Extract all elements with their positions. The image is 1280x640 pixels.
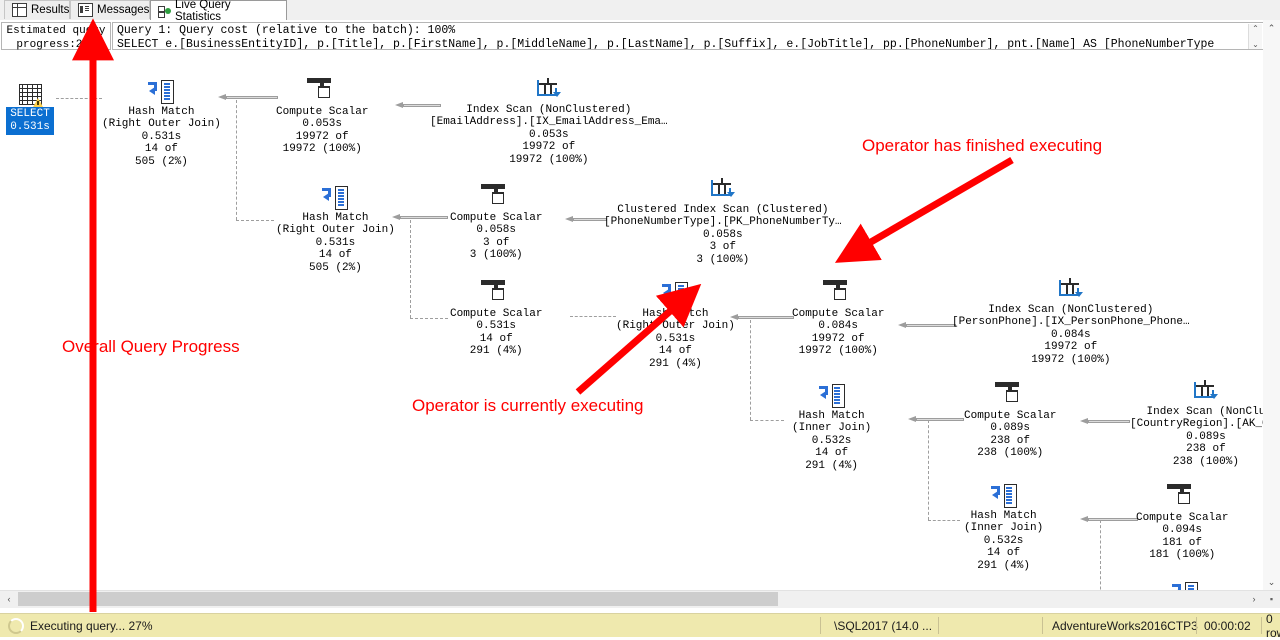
operator-line: 0.531s: [450, 320, 542, 332]
status-elapsed-text: 00:00:02: [1204, 619, 1251, 633]
operator-line: 0.531s: [102, 131, 221, 143]
operator-line: 291 (4%): [792, 460, 871, 472]
operator-node-index-scan-emailaddress[interactable]: Index Scan (NonClustered)[EmailAddress].…: [430, 78, 668, 166]
operator-line: 14 of: [450, 333, 542, 345]
query-text-scroll-up-icon[interactable]: ⌃: [1251, 25, 1260, 34]
hash-match-icon: [991, 484, 1017, 508]
status-executing-text: Executing query... 27%: [30, 619, 153, 633]
operator-line: [CountryRegion].[AK_Cou: [1130, 418, 1280, 430]
operator-node-compute-scalar-2[interactable]: Compute Scalar0.058s3 of3 (100%): [450, 186, 542, 262]
operator-line: (Right Outer Join): [102, 118, 221, 130]
operator-line: 19972 of: [430, 141, 668, 153]
annotation-progress-label: Overall Query Progress: [62, 337, 240, 357]
warning-icon: [33, 98, 43, 107]
operator-node-hash-match-1[interactable]: Hash Match(Right Outer Join)0.531s14 of5…: [102, 80, 221, 168]
connector-hash2: [236, 220, 274, 221]
status-database: AdventureWorks2016CTP3: [1052, 614, 1198, 637]
operator-line: 291 (4%): [616, 358, 735, 370]
estimated-progress-line1: Estimated query: [6, 25, 105, 37]
operator-line: 181 (100%): [1136, 549, 1228, 561]
live-query-icon: [158, 5, 171, 17]
operator-line: 0.084s: [952, 329, 1190, 341]
connector-hash5: [928, 520, 960, 521]
operator-line: 19972 of: [276, 131, 368, 143]
query-text-header: Query 1: Query cost (relative to the bat…: [112, 22, 1264, 50]
tab-live-query-statistics[interactable]: Live Query Statistics: [150, 0, 287, 20]
index-scan-icon: [1193, 380, 1219, 404]
hash-match-icon: [1172, 582, 1198, 590]
operator-line: Hash Match: [102, 106, 221, 118]
operator-line: 14 of: [276, 249, 395, 261]
operator-node-hash-match-4[interactable]: Hash Match(Inner Join)0.532s14 of291 (4%…: [792, 384, 871, 472]
status-server-text: \SQL2017 (14.0 ...: [834, 619, 932, 633]
status-bar: Executing query... 27% \SQL2017 (14.0 ..…: [0, 613, 1280, 637]
arrow-compute2-clustered: [565, 216, 607, 223]
operator-node-compute-scalar-4[interactable]: Compute Scalar0.084s19972 of19972 (100%): [792, 282, 884, 358]
operator-line: Index Scan (NonClustered): [952, 304, 1190, 316]
operator-line: 3 (100%): [450, 249, 542, 261]
estimated-query-progress-box: Estimated query progress:27%: [1, 22, 111, 50]
operator-line: (Inner Join): [964, 522, 1043, 534]
operator-line: 3 of: [604, 241, 842, 253]
operator-node-hash-match-3[interactable]: Hash Match(Right Outer Join)0.531s14 of2…: [616, 282, 735, 370]
connector-select-hash1: [56, 98, 102, 99]
operator-line: 19972 of: [952, 341, 1190, 353]
operator-line: 14 of: [102, 143, 221, 155]
operator-line: 0.532s: [964, 535, 1043, 547]
operator-line: (Right Outer Join): [616, 320, 735, 332]
hash-match-icon: [322, 186, 348, 210]
tab-results[interactable]: Results: [4, 0, 70, 19]
compute-scalar-icon: [997, 384, 1023, 408]
operator-line: 238 (100%): [1130, 456, 1280, 468]
operator-line: 505 (2%): [276, 262, 395, 274]
message-icon: [78, 3, 93, 17]
connector-compute3-hash3: [570, 316, 616, 317]
scroll-down-icon[interactable]: ⌄: [1263, 574, 1280, 590]
operator-line: 0.053s: [430, 129, 668, 141]
status-database-text: AdventureWorks2016CTP3: [1052, 619, 1198, 633]
arrow-hash5-compute6: [1080, 516, 1138, 523]
operator-line: Hash Match: [616, 308, 735, 320]
horizontal-scroll-thumb[interactable]: [18, 592, 778, 606]
connector-vertical-1: [236, 100, 237, 220]
arrow-hash4-compute5: [908, 416, 964, 423]
operator-node-index-scan-countryregion[interactable]: Index Scan (NonClu[CountryRegion].[AK_Co…: [1130, 380, 1280, 468]
operator-line: Hash Match: [276, 212, 395, 224]
arrow-compute5-indexscan3: [1080, 418, 1130, 425]
scroll-right-icon[interactable]: ›: [1246, 592, 1262, 606]
operator-node-hash-match-2[interactable]: Hash Match(Right Outer Join)0.531s14 of5…: [276, 186, 395, 274]
operator-line: Clustered Index Scan (Clustered): [604, 204, 842, 216]
operator-line: 0.531s: [616, 333, 735, 345]
operator-line: 0.089s: [1130, 431, 1280, 443]
operator-line: [EmailAddress].[IX_EmailAddress_Ema…: [430, 116, 668, 128]
operator-line: 238 (100%): [964, 447, 1056, 459]
compute-scalar-icon: [825, 282, 851, 306]
status-executing-group: Executing query... 27%: [8, 614, 153, 637]
operator-node-hash-match-5[interactable]: Hash Match(Inner Join)0.532s14 of291 (4%…: [964, 484, 1043, 572]
status-rows-text: 0 rows: [1266, 612, 1280, 640]
operator-line: 238 of: [1130, 443, 1280, 455]
execution-plan-pane[interactable]: Estimated query progress:27% Query 1: Qu…: [0, 20, 1280, 590]
operator-line: Hash Match: [792, 410, 871, 422]
operator-line: 0.084s: [792, 320, 884, 332]
operator-node-hash-match-6[interactable]: Hash Match: [1152, 582, 1218, 590]
operator-line: 0.089s: [964, 422, 1056, 434]
connector-hash4: [750, 420, 784, 421]
operator-line: 19972 (100%): [430, 154, 668, 166]
operator-node-clustered-index-scan-phonenumbertype[interactable]: Clustered Index Scan (Clustered)[PhoneNu…: [604, 178, 842, 266]
connector-vertical-3: [750, 320, 751, 420]
status-server: \SQL2017 (14.0 ...: [834, 614, 932, 637]
select-node-label: SELECT: [10, 108, 50, 120]
operator-line: 0.532s: [792, 435, 871, 447]
query-text-scrollbar[interactable]: ⌃ ⌄: [1248, 24, 1262, 50]
spinner-icon: [8, 618, 24, 634]
tab-messages-label: Messages: [97, 4, 149, 16]
tab-results-label: Results: [31, 4, 69, 16]
operator-node-compute-scalar-5[interactable]: Compute Scalar0.089s238 of238 (100%): [964, 384, 1056, 460]
compute-scalar-icon: [309, 80, 335, 104]
index-scan-icon: [1058, 278, 1084, 302]
arrow-hash2-compute2: [392, 214, 448, 221]
operator-line: (Right Outer Join): [276, 224, 395, 236]
operator-line: Compute Scalar: [1136, 512, 1228, 524]
operator-line: 0.094s: [1136, 524, 1228, 536]
tab-messages[interactable]: Messages: [70, 0, 150, 19]
hash-match-icon: [148, 80, 174, 104]
index-scan-icon: [536, 78, 562, 102]
connector-vertical-4: [928, 420, 929, 520]
operator-line: 14 of: [616, 345, 735, 357]
operator-line: 19972 (100%): [952, 354, 1190, 366]
operator-line: 291 (4%): [450, 345, 542, 357]
operator-line: Compute Scalar: [792, 308, 884, 320]
select-node-badge: SELECT 0.531s: [6, 107, 54, 135]
compute-scalar-icon: [1169, 486, 1195, 510]
operator-line: 181 of: [1136, 537, 1228, 549]
operator-node-compute-scalar-1[interactable]: Compute Scalar0.053s19972 of19972 (100%): [276, 80, 368, 156]
operator-line: Compute Scalar: [276, 106, 368, 118]
status-rows: 0 rows: [1266, 614, 1280, 637]
select-result-icon: [17, 84, 43, 106]
operator-line: (Inner Join): [792, 422, 871, 434]
operator-line: [PhoneNumberType].[PK_PhoneNumberTy…: [604, 216, 842, 228]
query-cost-line: Query 1: Query cost (relative to the bat…: [117, 24, 1263, 38]
results-tab-strip: Results Messages Live Query Statistics: [0, 0, 1280, 21]
operator-line: 238 of: [964, 435, 1056, 447]
operator-line: [PersonPhone].[IX_PersonPhone_Phone…: [952, 316, 1190, 328]
operator-line: 14 of: [964, 547, 1043, 559]
operator-line: Compute Scalar: [450, 308, 542, 320]
estimated-progress-line2: progress:27%: [16, 39, 95, 51]
operator-line: 0.531s: [276, 237, 395, 249]
operator-line: 19972 (100%): [792, 345, 884, 357]
connector-vertical-2: [410, 220, 411, 318]
connector-compute3: [410, 318, 448, 319]
operator-line: Compute Scalar: [964, 410, 1056, 422]
operator-line: 505 (2%): [102, 156, 221, 168]
plan-vertical-scrollbar[interactable]: ⌃ ⌄: [1263, 20, 1280, 590]
operator-line: 19972 of: [792, 333, 884, 345]
select-node-time: 0.531s: [10, 121, 50, 133]
operator-node-compute-scalar-3[interactable]: Compute Scalar0.531s14 of291 (4%): [450, 282, 542, 358]
operator-line: Index Scan (NonClustered): [430, 104, 668, 116]
arrow-compute4-indexscan2: [898, 322, 956, 329]
query-text-scroll-down-icon[interactable]: ⌄: [1251, 41, 1260, 50]
arrow-hash3-compute4: [730, 314, 794, 321]
query-sql-line: SELECT e.[BusinessEntityID], p.[Title], …: [117, 38, 1263, 50]
compute-scalar-icon: [483, 186, 509, 210]
compute-scalar-icon: [483, 282, 509, 306]
select-operator-node[interactable]: SELECT 0.531s: [6, 84, 54, 135]
operator-line: 0.053s: [276, 118, 368, 130]
scroll-up-icon[interactable]: ⌃: [1263, 20, 1280, 36]
operator-line: Compute Scalar: [450, 212, 542, 224]
operator-line: 3 of: [450, 237, 542, 249]
annotation-finished-label: Operator has finished executing: [862, 136, 1102, 156]
status-elapsed: 00:00:02: [1204, 614, 1251, 637]
operator-line: Hash Match: [964, 510, 1043, 522]
grid-icon: [12, 3, 27, 17]
annotation-executing-label: Operator is currently executing: [412, 396, 644, 416]
index-scan-icon: [710, 178, 736, 202]
operator-line: Index Scan (NonClu: [1130, 406, 1280, 418]
operator-node-index-scan-personphone[interactable]: Index Scan (NonClustered)[PersonPhone].[…: [952, 278, 1190, 366]
operator-line: 14 of: [792, 447, 871, 459]
connector-vertical-5: [1100, 520, 1101, 590]
arrow-hash1-compute1: [218, 94, 278, 101]
operator-line: 3 (100%): [604, 254, 842, 266]
operator-node-compute-scalar-6[interactable]: Compute Scalar0.094s181 of181 (100%): [1136, 486, 1228, 562]
operator-line: 0.058s: [604, 229, 842, 241]
scroll-left-icon[interactable]: ‹: [1, 592, 17, 606]
operator-line: 0.058s: [450, 224, 542, 236]
operator-line: 19972 (100%): [276, 143, 368, 155]
plan-horizontal-scrollbar[interactable]: ‹ › ▪: [0, 590, 1280, 608]
hash-match-icon: [662, 282, 688, 306]
scrollbar-corner-icon[interactable]: ▪: [1263, 591, 1280, 607]
hash-match-icon: [819, 384, 845, 408]
operator-line: 291 (4%): [964, 560, 1043, 572]
